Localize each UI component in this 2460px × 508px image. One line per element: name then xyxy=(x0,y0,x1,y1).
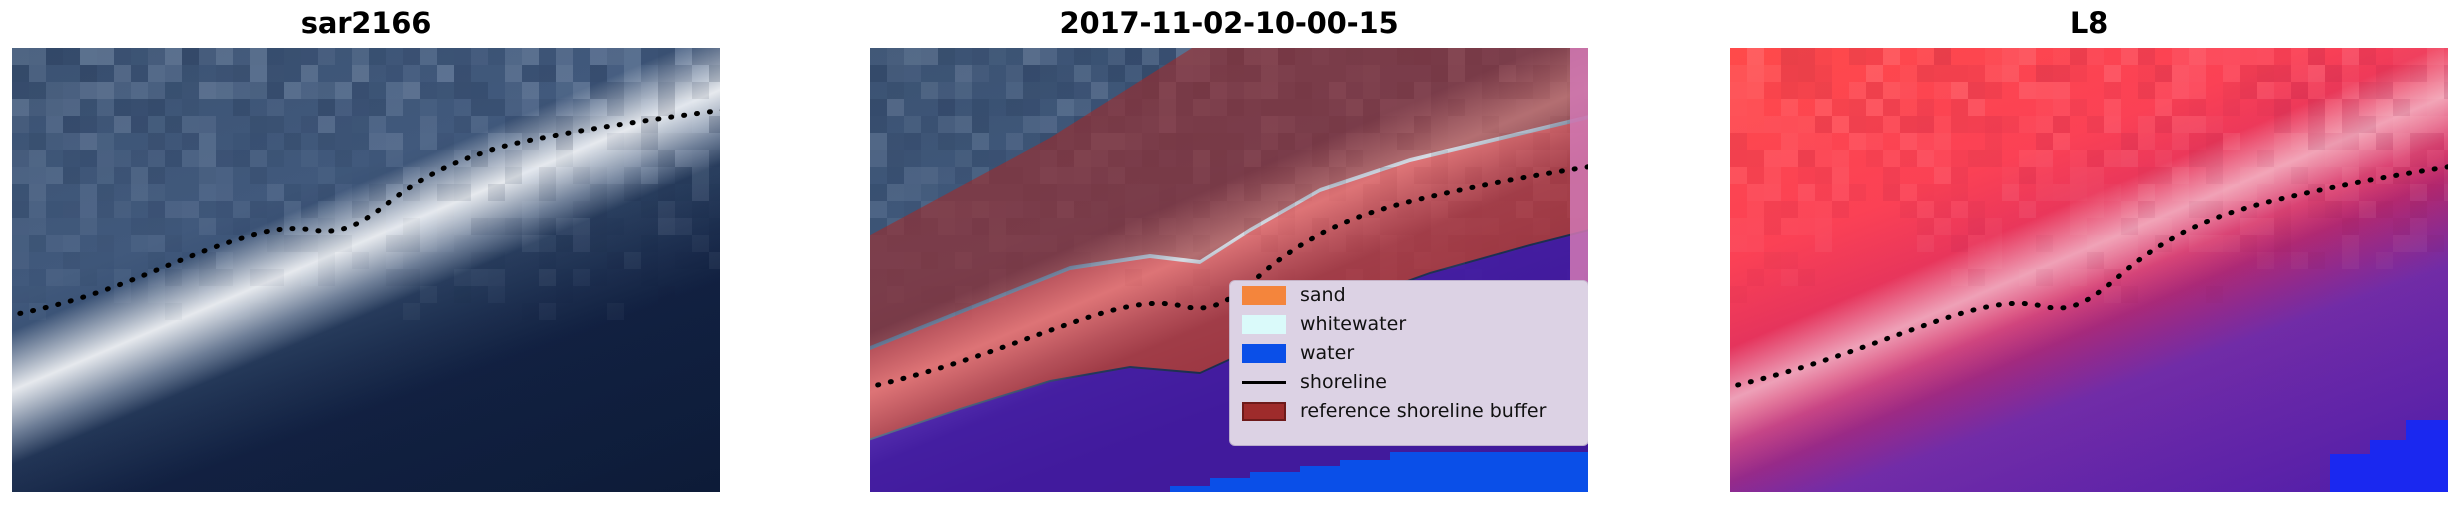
legend-item-water: water xyxy=(1230,339,1588,368)
legend-swatch-reference-shoreline-buffer xyxy=(1242,402,1286,421)
legend-swatch-shoreline xyxy=(1242,373,1286,392)
legend-item-whitewater: whitewater xyxy=(1230,310,1588,339)
legend-label-whitewater: whitewater xyxy=(1300,315,1406,334)
panel-sar-image[interactable] xyxy=(12,48,720,492)
legend-item-shoreline: shoreline xyxy=(1230,368,1588,397)
panel-title-sar: sar2166 xyxy=(12,6,720,40)
shoreline-dotted-line-l8 xyxy=(1730,48,2448,492)
panel-title-l8: L8 xyxy=(1730,6,2448,40)
legend-label-sand: sand xyxy=(1300,286,1346,305)
legend-label-shoreline: shoreline xyxy=(1300,373,1387,392)
panel-classified-image[interactable]: sand whitewater water shoreline referenc… xyxy=(870,48,1588,492)
legend-swatch-sand xyxy=(1242,286,1286,305)
shoreline-dotted-line-sar xyxy=(12,48,720,492)
panel-title-classified: 2017-11-02-10-00-15 xyxy=(870,6,1588,40)
legend-label-water: water xyxy=(1300,344,1354,363)
panel-l8-image[interactable] xyxy=(1730,48,2448,492)
figure-canvas: sar2166 2017-11-02-10-00-15 xyxy=(0,0,2460,508)
legend-swatch-water xyxy=(1242,344,1286,363)
legend-box[interactable]: sand whitewater water shoreline referenc… xyxy=(1230,281,1588,445)
legend-item-reference-shoreline-buffer: reference shoreline buffer xyxy=(1230,397,1588,426)
legend-label-reference-shoreline-buffer: reference shoreline buffer xyxy=(1300,402,1546,421)
legend-swatch-whitewater xyxy=(1242,315,1286,334)
legend-item-sand: sand xyxy=(1230,281,1588,310)
